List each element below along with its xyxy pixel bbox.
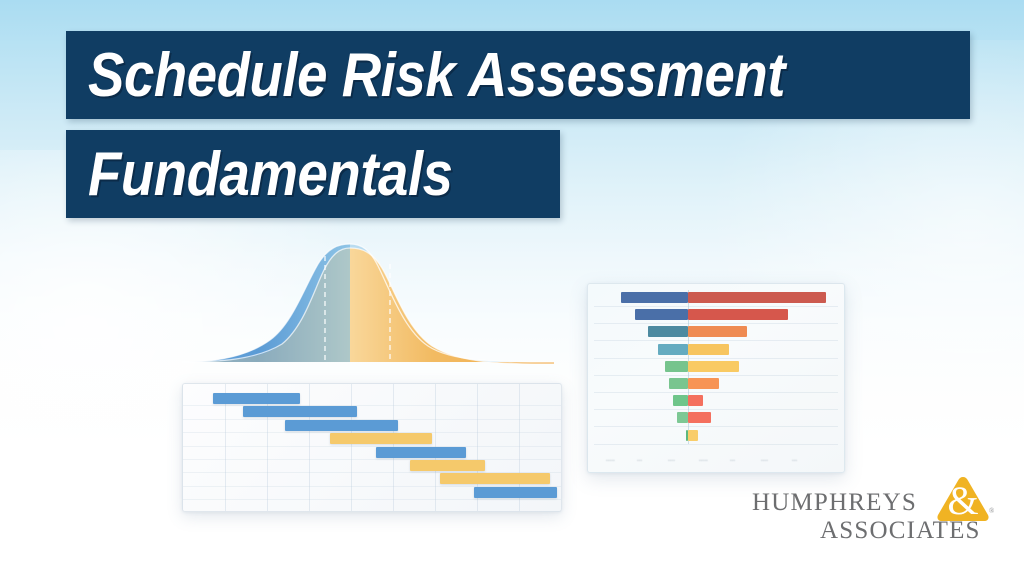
tornado-bar-high [688, 361, 739, 372]
gantt-task-bar [243, 406, 356, 417]
registered-trademark-icon: ® [989, 507, 994, 515]
tornado-gridline [594, 444, 838, 445]
svg-text:&: & [947, 478, 978, 523]
title-line-2: Fundamentals [66, 130, 560, 218]
sensitivity-tornado-chart: ••••••••••••••••••••••••••• [587, 283, 845, 473]
tornado-bar-high [688, 309, 788, 320]
gantt-gridline-vertical [351, 384, 352, 511]
project-schedule-gantt-chart [182, 383, 562, 512]
tornado-gridline [594, 392, 838, 393]
gantt-task-bar [213, 393, 300, 404]
gantt-task-bar [285, 420, 398, 431]
tornado-gridline [594, 375, 838, 376]
tornado-bar-low [621, 292, 688, 303]
logo-text-humphreys: HUMPHREYS [752, 489, 917, 517]
tornado-bar-low [669, 378, 688, 389]
title-line-1-text: Schedule Risk Assessment [88, 40, 785, 111]
tornado-gridline [594, 409, 838, 410]
title-card-canvas: Schedule Risk Assessment Fundamentals [0, 0, 1024, 576]
tornado-bar-high [688, 430, 698, 441]
tornado-bar-high [688, 395, 703, 406]
tornado-bar-high [688, 326, 747, 337]
tornado-gridline [594, 340, 838, 341]
tornado-gridline [594, 306, 838, 307]
gantt-gridline-horizontal [183, 446, 561, 447]
gantt-task-bar [410, 460, 486, 471]
tornado-bar-low [665, 361, 688, 372]
tornado-gridline [594, 358, 838, 359]
tornado-bar-low [648, 326, 688, 337]
risk-distribution-curves-chart [178, 228, 558, 370]
tornado-tick-label: ••• [730, 458, 735, 463]
tornado-tick-label: •••• [668, 458, 675, 463]
gantt-gridline-horizontal [183, 405, 561, 406]
tornado-tick-label: ••••• [699, 458, 708, 463]
tornado-bar-low [658, 344, 687, 355]
title-line-2-text: Fundamentals [88, 139, 453, 210]
tornado-bar-high [688, 412, 711, 423]
gantt-task-bar [440, 473, 550, 484]
tornado-tick-label: ••••• [606, 458, 615, 463]
tornado-bar-high [688, 378, 719, 389]
gantt-task-bar [474, 487, 557, 498]
gantt-task-bar [376, 447, 467, 458]
gantt-gridline-horizontal [183, 459, 561, 460]
gantt-gridline-horizontal [183, 499, 561, 500]
tornado-bar-high [688, 344, 729, 355]
tornado-gridline [594, 323, 838, 324]
tornado-bar-low [635, 309, 687, 320]
tornado-gridline [594, 426, 838, 427]
gantt-gridline-vertical [309, 384, 310, 511]
tornado-tick-label: •••• [761, 458, 768, 463]
humphreys-associates-logo[interactable]: HUMPHREYS ASSOCIATES & ® [752, 487, 1002, 553]
tornado-tick-label: ••• [637, 458, 642, 463]
gantt-task-bar [330, 433, 432, 444]
distribution-curve-orange [182, 248, 554, 364]
title-line-1: Schedule Risk Assessment [66, 31, 970, 119]
tornado-bar-low [677, 412, 687, 423]
tornado-bar-high [688, 292, 826, 303]
tornado-bar-low [673, 395, 688, 406]
ampersand-triangle-icon: & [935, 475, 991, 527]
tornado-tick-label: ••• [792, 458, 797, 463]
